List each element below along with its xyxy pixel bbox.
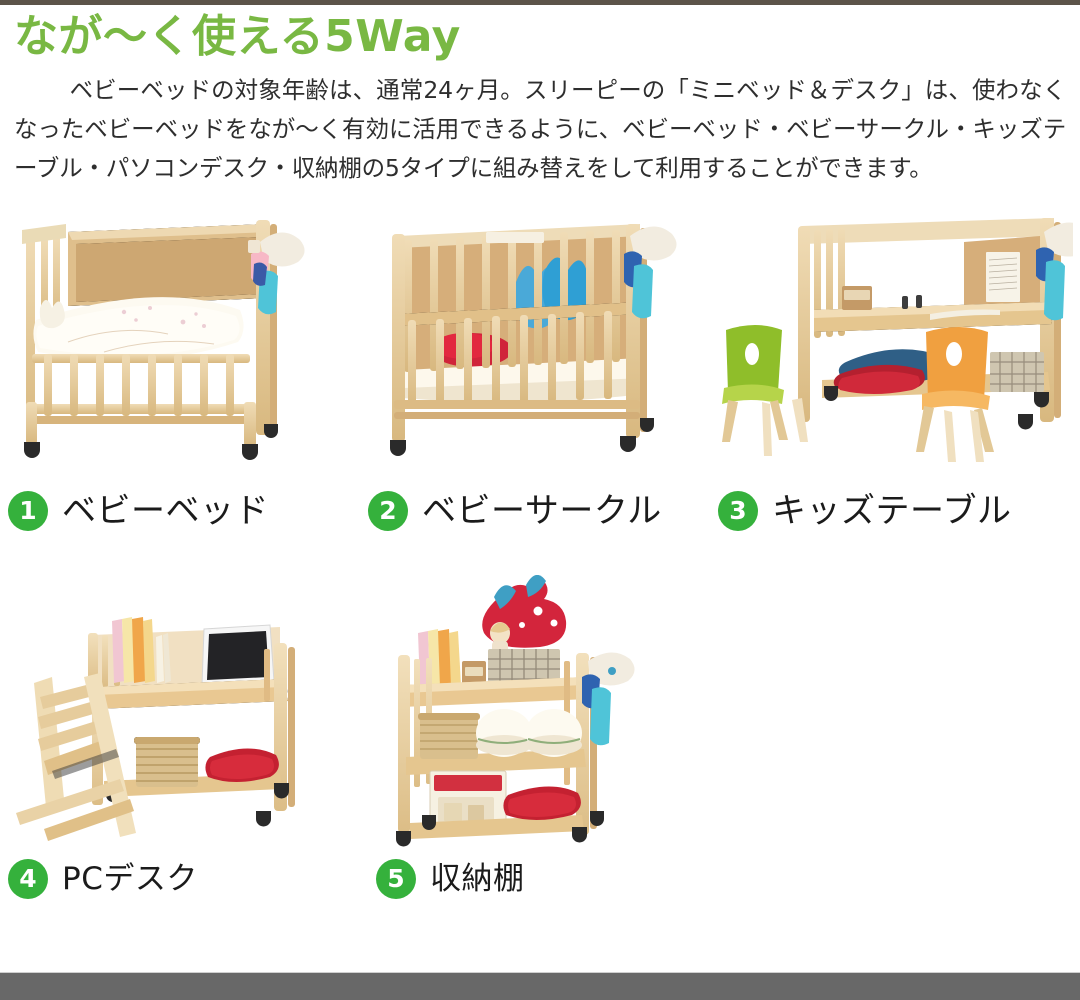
product-card-3[interactable]: 3 キッズテーブル: [718, 202, 1073, 531]
product-photo-4: [8, 575, 338, 855]
product-caption-5: 5 収納棚: [376, 859, 676, 899]
product-photo-5: [376, 575, 676, 855]
product-label-2: ベビーサークル: [422, 491, 662, 531]
playpen-illustration: [368, 202, 698, 487]
product-caption-3: 3 キッズテーブル: [718, 491, 1073, 531]
product-card-5[interactable]: 5 収納棚: [376, 575, 676, 899]
pc-desk-illustration: [8, 575, 338, 855]
product-grid-row-1: 1 ベビーベッド: [0, 202, 1080, 547]
product-label-1: ベビーベッド: [62, 491, 269, 531]
product-photo-1: [8, 202, 338, 487]
product-caption-4: 4 PCデスク: [8, 859, 338, 899]
product-badge-5: 5: [376, 859, 416, 899]
product-badge-2: 2: [368, 491, 408, 531]
baby-bed-illustration: [8, 202, 338, 487]
product-card-2[interactable]: 2 ベビーサークル: [368, 202, 698, 531]
product-label-4: PCデスク: [62, 859, 198, 899]
product-caption-2: 2 ベビーサークル: [368, 491, 698, 531]
product-card-4[interactable]: 4 PCデスク: [8, 575, 338, 899]
product-card-1[interactable]: 1 ベビーベッド: [8, 202, 338, 531]
product-grid-row-2: 4 PCデスク: [0, 575, 1080, 905]
intro-paragraph: ベビーベッドの対象年齢は、通常24ヶ月。スリーピーの「ミニベッド＆デスク」は、使…: [0, 71, 1080, 188]
page-title: なが〜く使える5Way: [0, 5, 1080, 65]
page-content: なが〜く使える5Way ベビーベッドの対象年齢は、通常24ヶ月。スリーピーの「ミ…: [0, 5, 1080, 972]
storage-shelf-illustration: [376, 575, 676, 855]
product-label-5: 収納棚: [430, 859, 525, 899]
product-badge-4: 4: [8, 859, 48, 899]
product-badge-3: 3: [718, 491, 758, 531]
product-label-3: キッズテーブル: [772, 491, 1011, 531]
kids-table-illustration: [718, 202, 1073, 487]
product-photo-3: [718, 202, 1073, 487]
product-caption-1: 1 ベビーベッド: [8, 491, 338, 531]
product-badge-1: 1: [8, 491, 48, 531]
bottom-chrome-strip: [0, 972, 1080, 1000]
product-photo-2: [368, 202, 698, 487]
